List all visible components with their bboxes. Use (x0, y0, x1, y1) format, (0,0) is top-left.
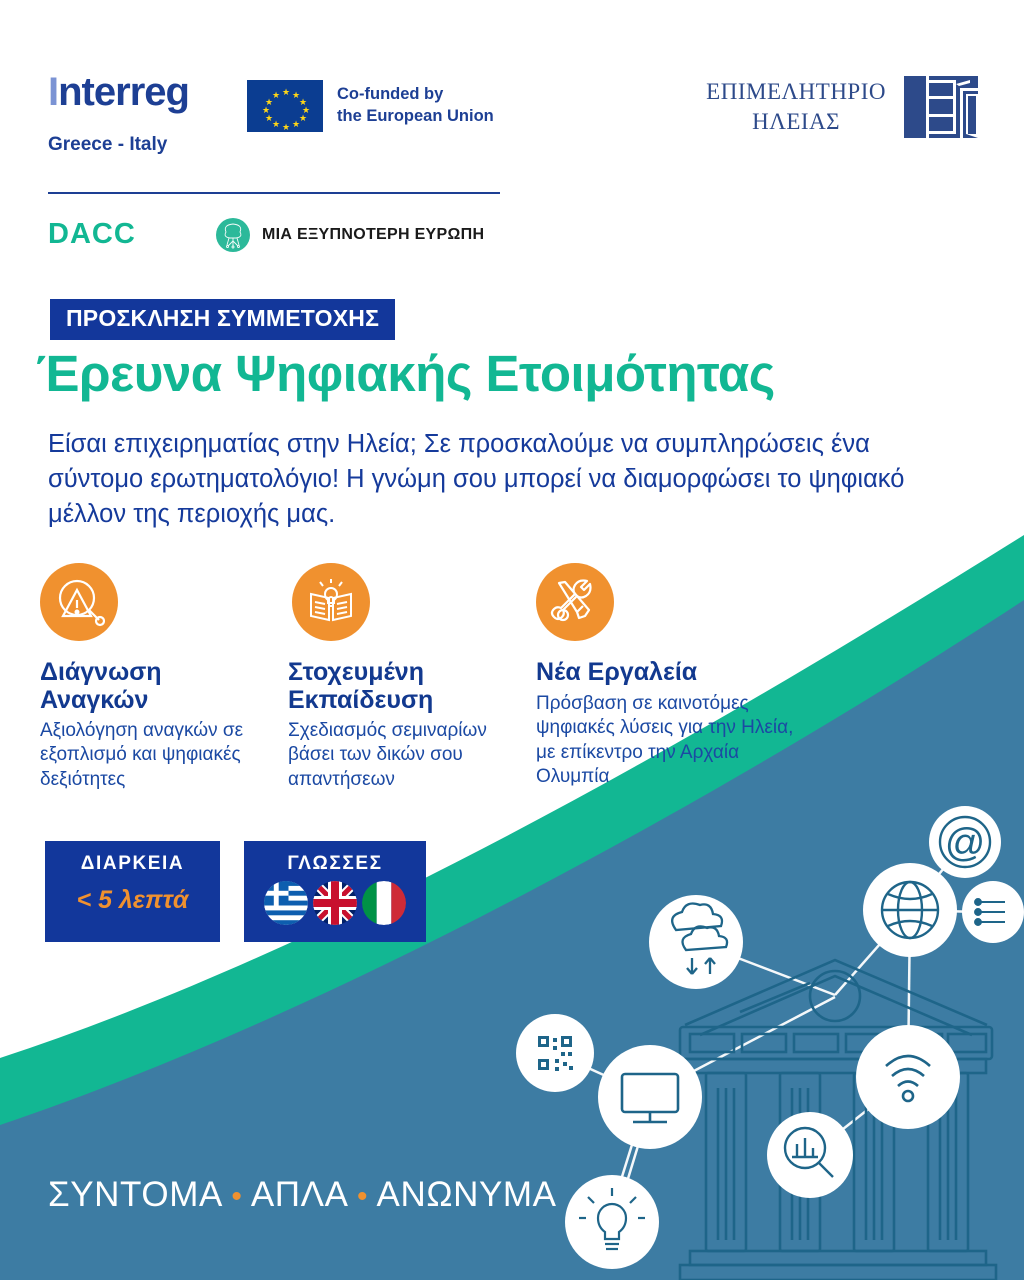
wifi-icon (856, 1025, 960, 1129)
chamber-name: ΕΠΙΜΕΛΗΤΗΡΙΟ ΗΛΕΙΑΣ (706, 77, 886, 137)
project-acronym: DACC (48, 218, 136, 251)
italy-flag-icon (362, 881, 406, 925)
qr-code-icon (516, 1014, 594, 1092)
globe-icon (863, 863, 957, 957)
duration-label: ΔΙΑΡΚΕΙΑ (45, 853, 220, 875)
eu-cofunding-text: Co-funded by the European Union (337, 84, 494, 128)
tagline-part-1: ΣΥΝΤΟΜΑ (48, 1175, 221, 1214)
eu-text-line1: Co-funded by (337, 84, 494, 106)
languages-label: ΓΛΩΣΣΕΣ (244, 853, 426, 875)
eu-flag-icon: ★ ★ ★ ★ ★ ★ ★ ★ ★ ★ ★ ★ (247, 80, 323, 132)
feature-title: Νέα Εργαλεία (536, 658, 806, 686)
duration-box: ΔΙΑΡΚΕΙΑ < 5 λεπτά (45, 841, 220, 942)
greek-temple-icon (680, 960, 996, 1280)
info-box-row: ΔΙΑΡΚΕΙΑ < 5 λεπτά ΓΛΩΣΣΕΣ (45, 841, 426, 942)
tagline-part-2: ΑΠΛΑ (251, 1175, 347, 1214)
smarter-europe-label: ΜΙΑ ΕΞΥΠΝΟΤΕΡΗ ΕΥΡΩΠΗ (262, 226, 484, 244)
greece-flag-icon (264, 881, 308, 925)
intro-paragraph: Είσαι επιχειρηματίας στην Ηλεία; Σε προσ… (48, 427, 928, 533)
magnifier-warning-icon (40, 563, 118, 641)
interreg-logo: Interreg Greece - Italy (48, 72, 189, 156)
feature-title: Στοχευμένη Εκπαίδευση (288, 658, 510, 714)
lightbulb-icon (565, 1175, 659, 1269)
tagline-separator: • (231, 1180, 242, 1213)
tagline-part-3: ΑΝΩΝΥΜΑ (377, 1175, 557, 1214)
chamber-emblem-icon (904, 76, 978, 138)
circuit-icon (962, 881, 1024, 943)
chart-magnifier-icon (767, 1112, 853, 1198)
eu-cofunding-logo: ★ ★ ★ ★ ★ ★ ★ ★ ★ ★ ★ ★ Co-funded by the… (247, 80, 494, 132)
at-sign-icon: @ (929, 806, 1001, 878)
book-lightbulb-icon (292, 563, 370, 641)
digital-network-illustration: @ (500, 800, 1024, 1280)
duration-value: < 5 λεπτά (45, 886, 220, 915)
feature-body: Πρόσβαση σε καινοτόμες ψηφιακές λύσεις γ… (536, 692, 806, 789)
tree-network-icon (216, 218, 250, 252)
chamber-of-commerce-logo: ΕΠΙΜΕΛΗΤΗΡΙΟ ΗΛΕΙΑΣ (706, 76, 978, 138)
svg-text:@: @ (945, 821, 986, 865)
tagline: ΣΥΝΤΟΜΑ • ΑΠΛΑ • ΑΝΩΝΥΜΑ (48, 1175, 557, 1215)
eu-text-line2: the European Union (337, 106, 494, 128)
feature-item: Διάγνωση Αναγκών Αξιολόγηση αναγκών σε ε… (40, 563, 270, 792)
languages-box: ΓΛΩΣΣΕΣ (244, 841, 426, 942)
header-divider (48, 192, 500, 194)
interreg-programme-label: Greece - Italy (48, 134, 189, 156)
invitation-badge: ΠΡΟΣΚΛΗΣΗ ΣΥΜΜΕΤΟΧΗΣ (50, 299, 395, 340)
header: Interreg Greece - Italy ★ ★ ★ ★ ★ ★ ★ ★ … (0, 0, 1024, 265)
feature-item: Στοχευμένη Εκπαίδευση Σχεδιασμός σεμιναρ… (288, 563, 510, 792)
interreg-wordmark: Interreg (48, 72, 189, 112)
wrench-screwdriver-icon (536, 563, 614, 641)
feature-item: Νέα Εργαλεία Πρόσβαση σε καινοτόμες ψηφι… (536, 563, 806, 789)
page-title: Έρευνα Ψηφιακής Ετοιμότητας (36, 344, 775, 403)
smarter-europe-logo: ΜΙΑ ΕΞΥΠΝΟΤΕΡΗ ΕΥΡΩΠΗ (216, 218, 484, 252)
flag-list (244, 881, 426, 925)
cloud-sync-icon (649, 895, 743, 989)
chamber-line2: ΗΛΕΙΑΣ (706, 107, 886, 137)
feature-title: Διάγνωση Αναγκών (40, 658, 270, 714)
feature-body: Αξιολόγηση αναγκών σε εξοπλισμό και ψηφι… (40, 719, 270, 792)
interreg-text: Interreg (48, 70, 189, 114)
chamber-line1: ΕΠΙΜΕΛΗΤΗΡΙΟ (706, 77, 886, 107)
monitor-icon (598, 1045, 702, 1149)
tagline-separator: • (357, 1180, 368, 1213)
uk-flag-icon (313, 881, 357, 925)
feature-body: Σχεδιασμός σεμιναρίων βάσει των δικών σο… (288, 719, 510, 792)
